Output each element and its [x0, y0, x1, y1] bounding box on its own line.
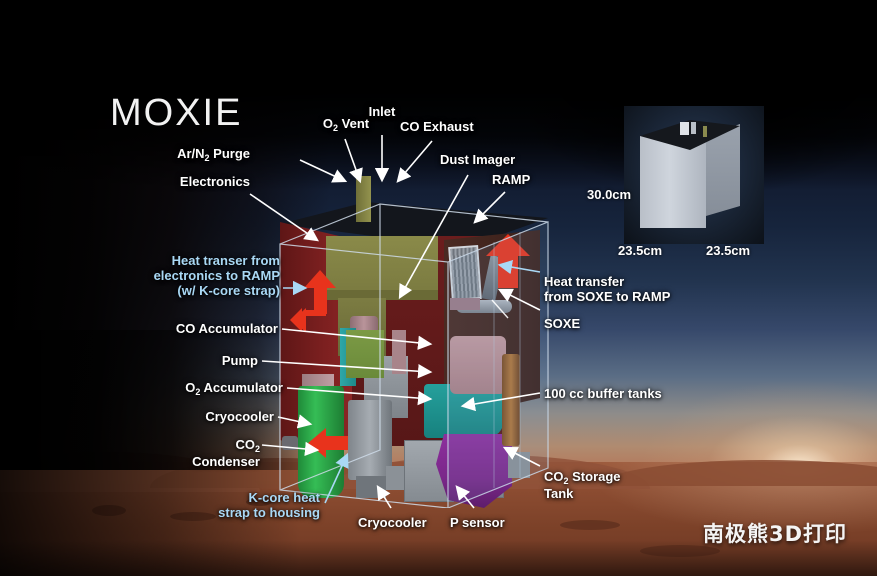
- inset-vent-nub: [691, 122, 696, 134]
- label-co2-storage-tank: CO2 Storage Tank: [544, 469, 621, 501]
- dimension-height: 30.0cm: [587, 187, 631, 202]
- label-kcore-strap: K-core heat strap to housing: [185, 490, 320, 520]
- label-electronics: Electronics: [150, 174, 250, 189]
- page-title: MOXIE: [110, 92, 242, 135]
- label-o2-accumulator: O2 Accumulator: [150, 380, 283, 397]
- label-dust-imager: Dust Imager: [440, 152, 515, 167]
- inset-exhaust-nub: [703, 126, 707, 137]
- watermark: 南极熊3D打印: [703, 518, 847, 548]
- dimension-depth: 23.5cm: [706, 243, 750, 258]
- moxie-size-inset: [624, 106, 764, 244]
- label-ramp: RAMP: [492, 172, 530, 187]
- label-buffer-tanks: 100 cc buffer tanks: [544, 386, 662, 401]
- terrain-rock: [560, 520, 620, 530]
- label-co2-condenser: CO2 Condenser: [160, 437, 260, 469]
- label-ar-n2-purge: Ar/N2 Purge: [150, 146, 250, 163]
- label-soxe: SOXE: [544, 316, 580, 331]
- label-heat-transfer-electronics: Heat transer from electronics to RAMP (w…: [145, 253, 280, 298]
- label-cryocooler-left: Cryocooler: [150, 409, 274, 424]
- label-inlet: Inlet: [352, 104, 412, 119]
- wireframe-cage: [264, 178, 564, 508]
- label-pump: Pump: [150, 353, 258, 368]
- dimension-width: 23.5cm: [618, 243, 662, 258]
- label-co-exhaust: CO Exhaust: [400, 119, 474, 134]
- inset-inlet-nub: [680, 122, 689, 135]
- label-p-sensor: P sensor: [450, 515, 505, 530]
- moxie-diagram-image: MOXIE 30.0cm 23.5cm 23.5cm: [0, 0, 877, 576]
- label-cryocooler-bottom: Cryocooler: [358, 515, 427, 530]
- inset-box-front: [640, 136, 706, 228]
- label-heat-transfer-soxe: Heat transfer from SOXE to RAMP: [544, 274, 670, 304]
- moxie-3d-model: [264, 178, 564, 508]
- label-co-accumulator: CO Accumulator: [150, 321, 278, 336]
